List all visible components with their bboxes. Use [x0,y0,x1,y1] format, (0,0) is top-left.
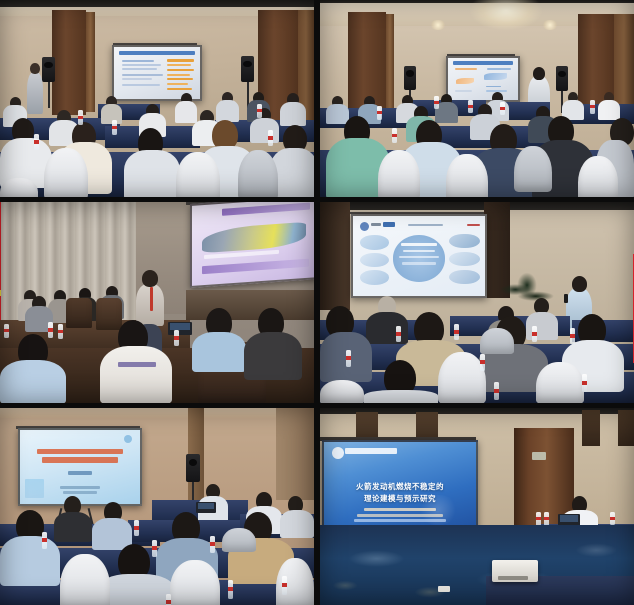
water-bottle [78,110,83,125]
laptop [196,502,216,513]
panel-1-scene [0,0,314,197]
collage-photo-4 [320,202,634,403]
panel-5-projection-screen [18,428,142,506]
panel-4-scene [320,202,634,403]
collage-photo-6: 火箭发动机燃烧不稳定的 理论建模与预示研究 [320,408,634,605]
panel-2-scene [320,0,634,197]
pa-speaker [186,454,200,482]
collage-photo-1 [0,0,314,197]
pa-speaker-right [241,56,254,82]
university-logo [332,447,344,459]
presenter [27,72,43,114]
panel-4-projection-screen [351,214,487,298]
collage-photo-5 [0,408,314,605]
pa-speaker-left [404,66,416,90]
photo-collage: 火箭发动机燃烧不稳定的 理论建模与预示研究 [0,0,634,605]
pa-speaker-left [42,57,55,82]
chandelier [470,0,542,30]
slide-logo-text [345,448,397,454]
attendee-dickies-jacket [100,346,172,403]
collage-photo-3 [0,202,314,403]
laptop [168,322,192,335]
collage-photo-2 [320,0,634,197]
panel-3-scene [0,202,314,403]
panel-5-scene [0,408,314,605]
slide-title-line-1: 火箭发动机燃烧不稳定的 [324,482,476,491]
panel-2-projection-screen [446,56,520,102]
panel-3-projection-screen [190,202,314,288]
pa-speaker-right [556,66,568,91]
panel-6-projection-screen: 火箭发动机燃烧不稳定的 理论建模与预示研究 [322,440,478,536]
panel-6-scene: 火箭发动机燃烧不稳定的 理论建模与预示研究 [320,408,634,605]
